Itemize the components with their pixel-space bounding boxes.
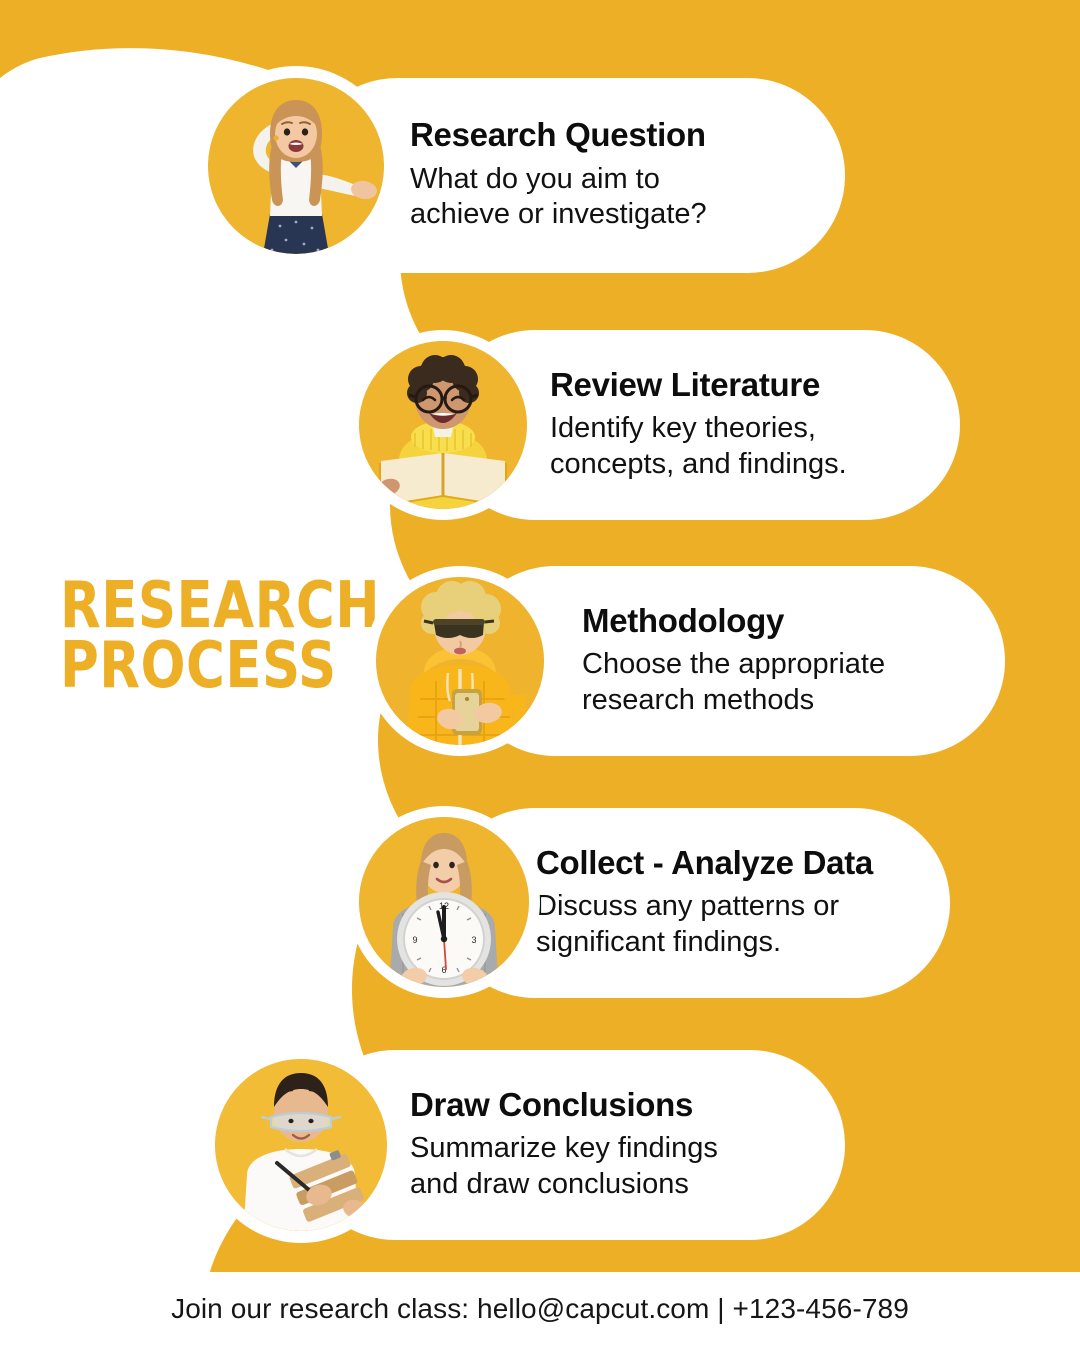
step-photo-ring-2 <box>348 330 538 520</box>
step-description-3: Choose the appropriate research methods <box>582 647 979 718</box>
child-sunglasses-phone-photo <box>376 577 544 745</box>
step-title-5: Draw Conclusions <box>410 1088 819 1123</box>
step-photo-ring-1 <box>196 66 396 266</box>
step-title-4: Collect - Analyze Data <box>536 846 924 881</box>
child-reading-book-photo <box>359 341 527 509</box>
girl-hands-up-photo <box>208 78 384 254</box>
boy-goggles-clipboard-photo <box>215 1059 387 1231</box>
step-title-3: Methodology <box>582 604 979 639</box>
page-title: RESEARCH PROCESS <box>60 577 364 696</box>
step-photo-ring-5 <box>203 1047 399 1243</box>
step-photo-ring-3 <box>365 566 555 756</box>
step-description-5: Summarize key findings and draw conclusi… <box>410 1131 819 1202</box>
step-description-2: Identify key theories, concepts, and fin… <box>550 411 934 482</box>
poster-root: RESEARCH PROCESS Research Question What … <box>0 0 1080 1350</box>
girl-holding-clock-photo: 12 3 6 9 <box>359 817 529 987</box>
step-title-1: Research Question <box>410 118 819 153</box>
footer-contact-text: Join our research class: hello@capcut.co… <box>0 1293 1080 1325</box>
step-description-4: Discuss any patterns or significant find… <box>536 889 924 960</box>
svg-text:3: 3 <box>471 935 476 945</box>
step-description-1: What do you aim to achieve or investigat… <box>410 162 819 233</box>
step-photo-ring-4: 12 3 6 9 <box>348 806 540 998</box>
step-title-2: Review Literature <box>550 368 934 403</box>
svg-text:9: 9 <box>412 935 417 945</box>
